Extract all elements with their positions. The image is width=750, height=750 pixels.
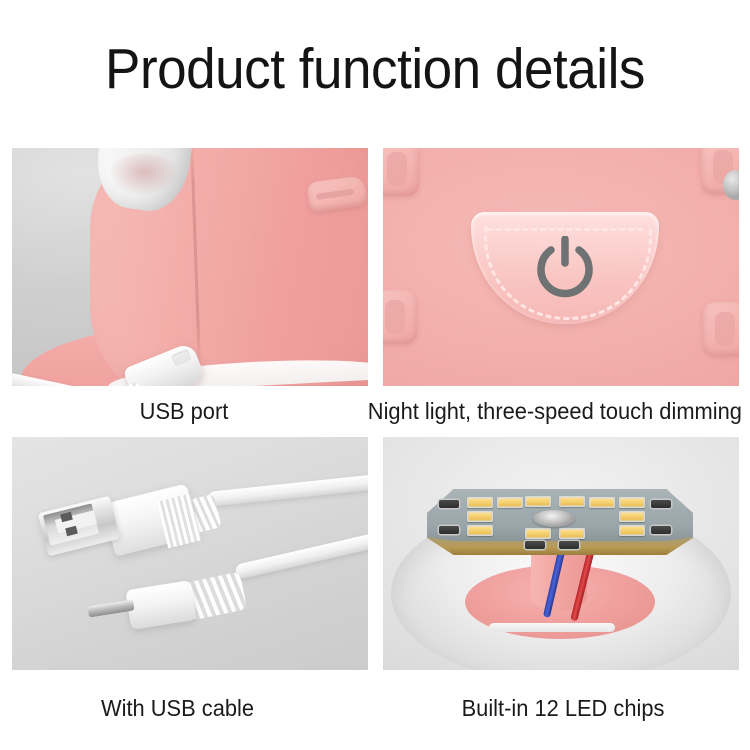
led-chip: [559, 528, 585, 539]
caption-night-light: Night light, three-speed touch dimming: [368, 397, 740, 425]
smd-component: [439, 500, 459, 508]
led-chip: [619, 525, 645, 536]
smd-component: [651, 500, 671, 508]
clip-bottom-left-icon: [383, 290, 417, 344]
led-chip: [589, 497, 615, 508]
panel-led-chips: [383, 437, 739, 670]
led-chip: [619, 497, 645, 508]
panel-usb-cable: [12, 437, 368, 670]
smd-component: [525, 541, 545, 549]
led-chip: [619, 511, 645, 522]
caption-usb-cable: With USB cable: [9, 694, 346, 722]
clip-top-left-icon: [383, 148, 419, 196]
led-chip: [525, 528, 551, 539]
panel-night-light: [383, 148, 739, 386]
panel-usb-port: [12, 148, 368, 386]
power-icon[interactable]: [535, 236, 595, 302]
caption-usb-port: USB port: [9, 397, 359, 425]
base-slot: [489, 623, 615, 632]
smd-component: [651, 526, 671, 534]
led-chip: [497, 497, 523, 508]
led-chip: [525, 496, 551, 507]
smd-component: [559, 541, 579, 549]
pad-stitching-top: [487, 228, 643, 231]
led-chip: [467, 525, 493, 536]
lamp-neck-shadow: [104, 154, 184, 200]
clip-bottom-right-icon: [703, 302, 739, 356]
center-screw-icon: [533, 510, 575, 527]
led-chip: [559, 496, 585, 507]
led-chip: [467, 497, 493, 508]
led-chip: [467, 511, 493, 522]
page-title: Product function details: [26, 38, 724, 100]
smd-component: [439, 526, 459, 534]
caption-led-chips: Built-in 12 LED chips: [392, 694, 734, 722]
